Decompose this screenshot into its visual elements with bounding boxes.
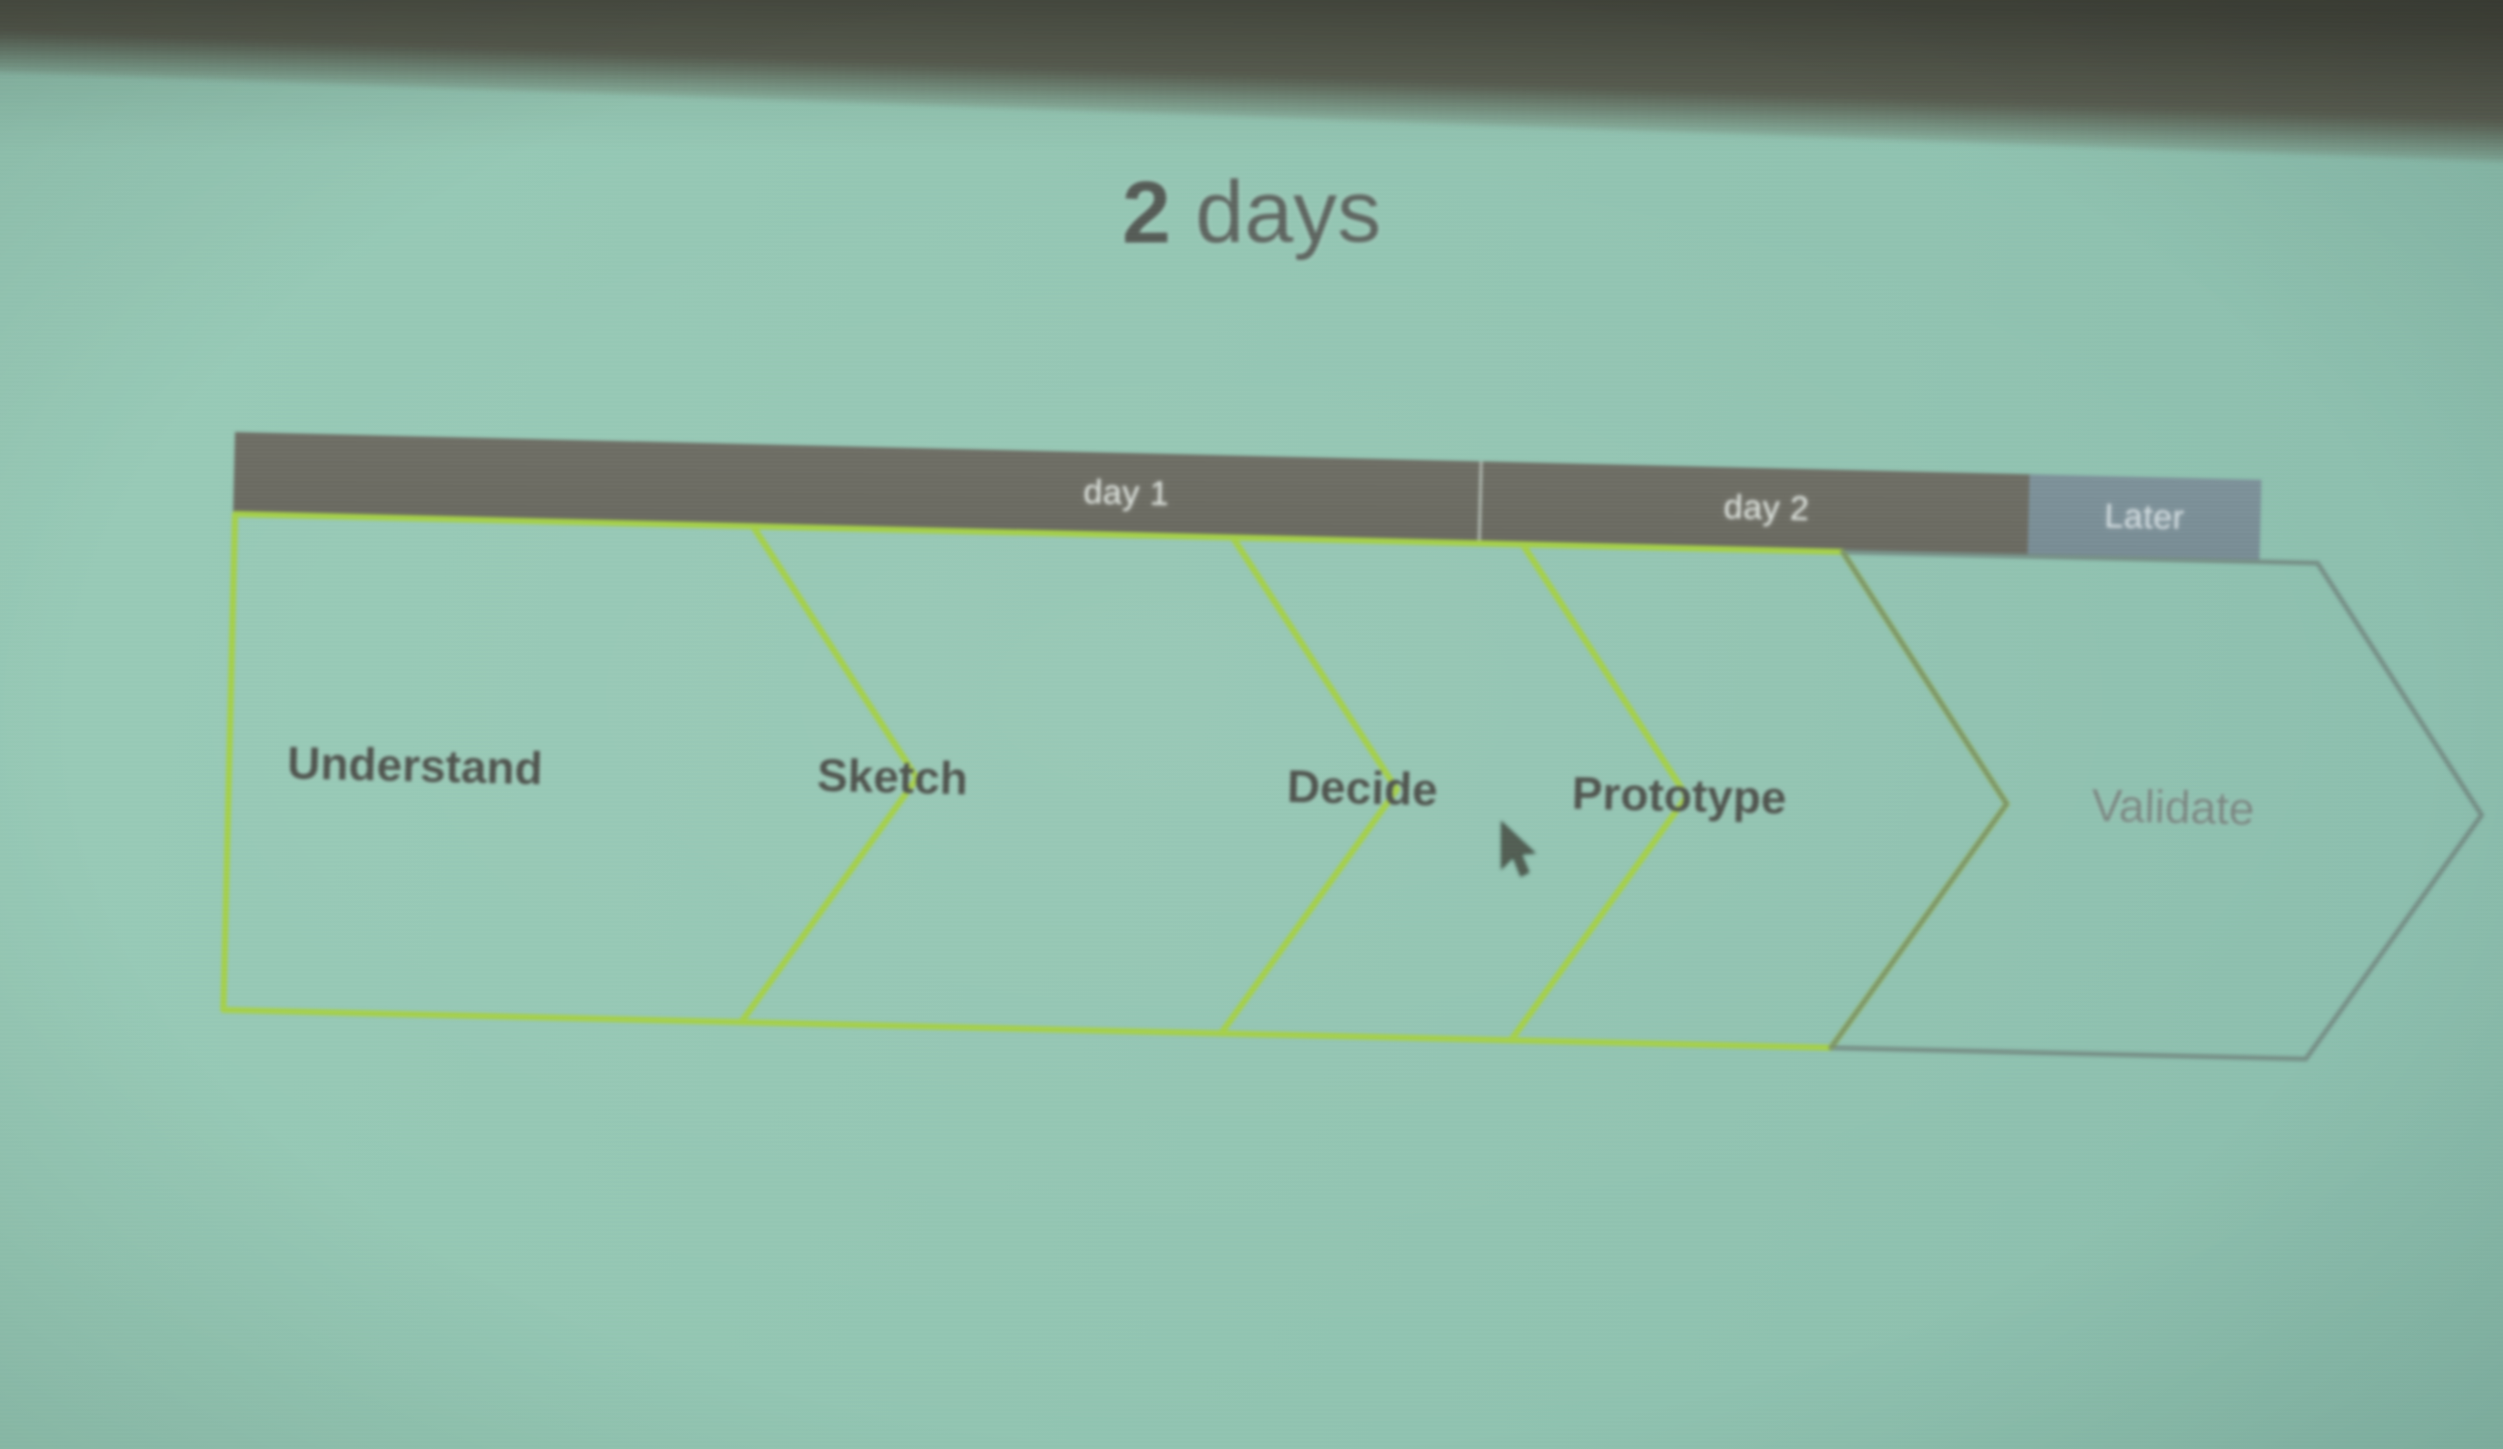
step-label-prototype: Prototype bbox=[1571, 766, 1787, 825]
timeline-segment-later-label: Later bbox=[2104, 497, 2185, 538]
timeline-segment-day2: day 2 bbox=[1478, 461, 2033, 554]
chevron-process-row: Understand Sketch Decide Prototype Valid… bbox=[221, 512, 2492, 1065]
timeline-segment-later: Later bbox=[2028, 474, 2262, 559]
title-word: days bbox=[1171, 161, 1382, 261]
sprint-timeline-diagram: day 1 day 2 Later bbox=[221, 432, 2495, 1085]
slide-photo: 2 days day 1 day 2 Later bbox=[0, 0, 2503, 1449]
mouse-pointer-icon bbox=[1496, 818, 1542, 884]
step-label-decide: Decide bbox=[1286, 759, 1438, 817]
page-title: 2 days bbox=[0, 163, 2503, 262]
timeline-segment-day1-label: day 1 bbox=[1083, 473, 1170, 514]
step-label-sketch: Sketch bbox=[816, 748, 968, 806]
title-number: 2 bbox=[1122, 162, 1171, 261]
timeline-segment-day2-label: day 2 bbox=[1723, 488, 1810, 529]
slide-content: 2 days day 1 day 2 Later bbox=[0, 0, 2503, 1449]
step-label-understand: Understand bbox=[287, 735, 544, 795]
step-label-validate: Validate bbox=[2091, 778, 2255, 836]
